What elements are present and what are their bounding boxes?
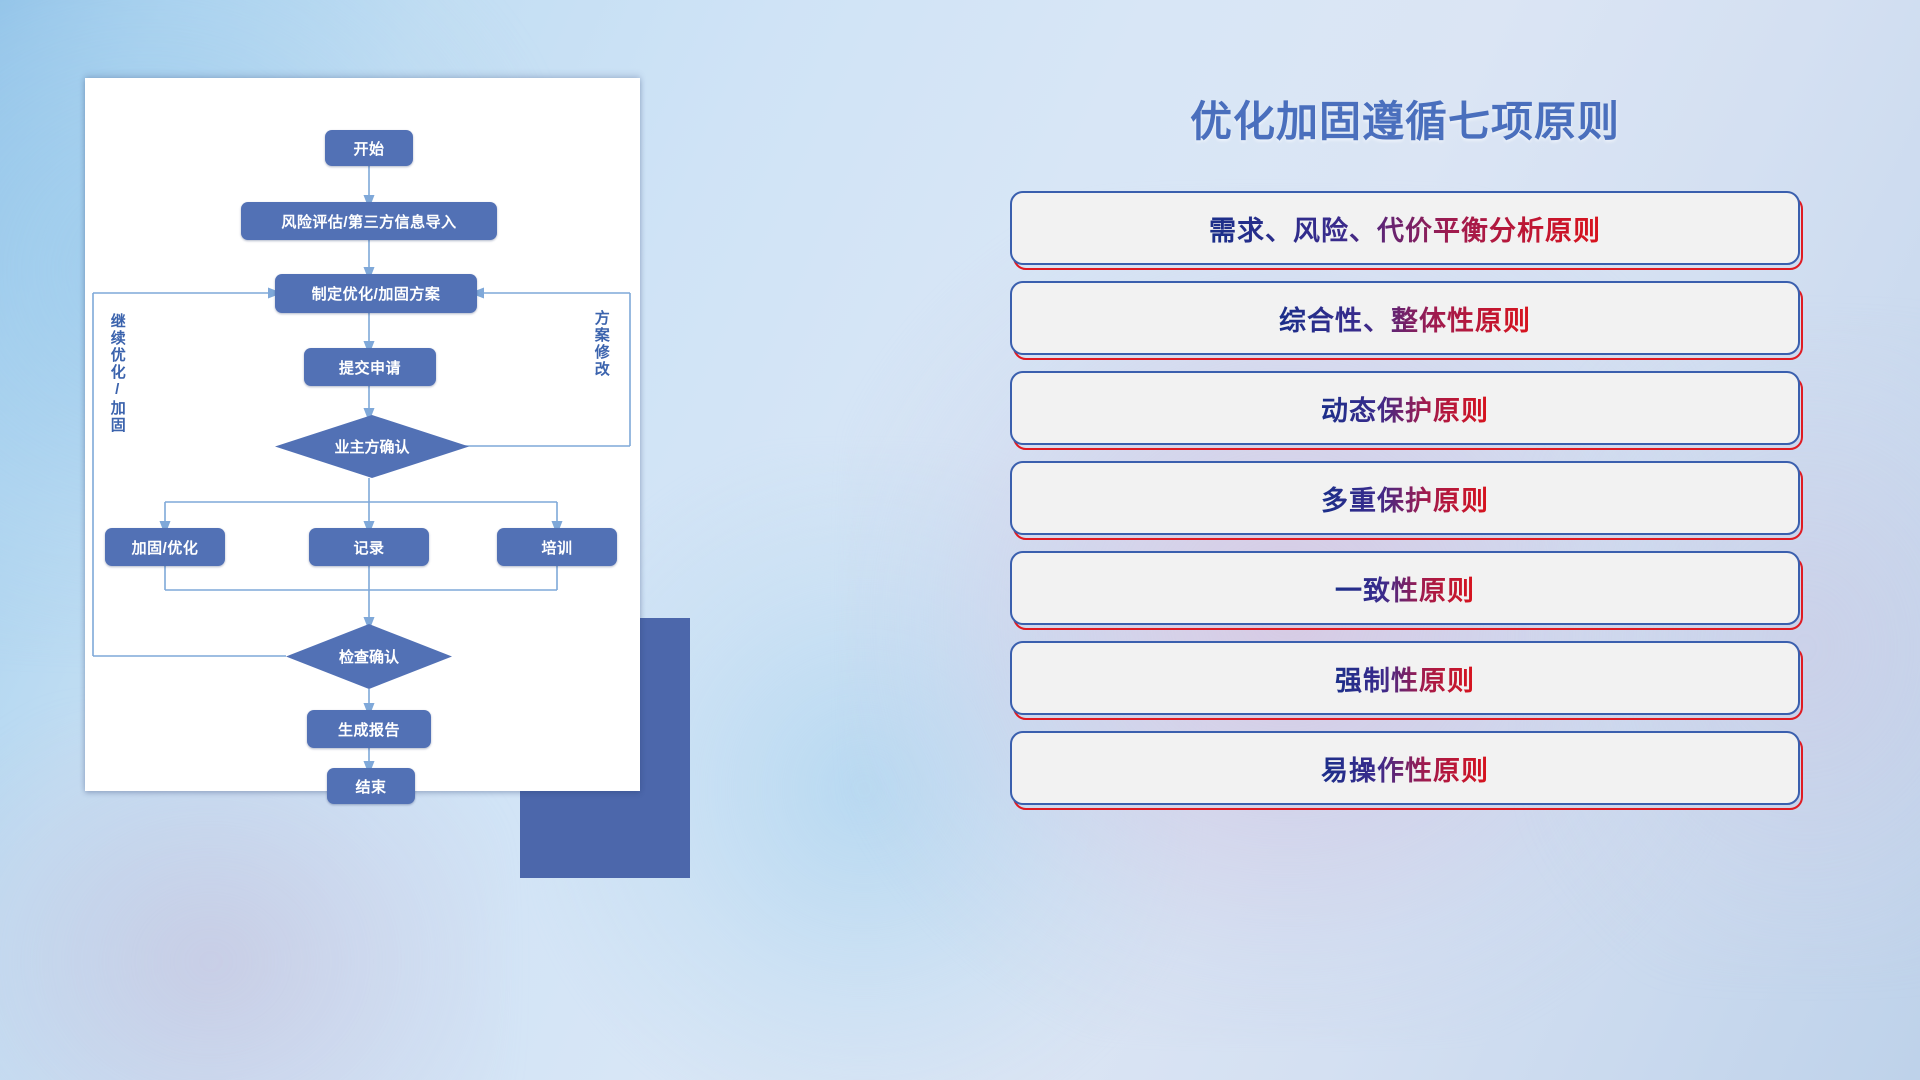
principle-label: 一致性原则 — [1335, 569, 1475, 608]
principles-panel: 优化加固遵循七项原则 需求、风险、代价平衡分析原则 综合性、整体性原则 动态保护… — [955, 80, 1855, 821]
flow-node-start[interactable]: 开始 — [325, 130, 413, 166]
flow-node-submit[interactable]: 提交申请 — [304, 348, 436, 386]
principle-label: 多重保护原则 — [1321, 479, 1489, 518]
flowchart-panel: 开始 风险评估/第三方信息导入 制定优化/加固方案 提交申请 业主方确认 加固/… — [85, 78, 645, 791]
principle-card-3[interactable]: 动态保护原则 — [1010, 371, 1800, 445]
flow-node-submit-label: 提交申请 — [339, 357, 401, 378]
card-face: 综合性、整体性原则 — [1010, 281, 1800, 355]
principle-card-7[interactable]: 易操作性原则 — [1010, 731, 1800, 805]
card-face: 动态保护原则 — [1010, 371, 1800, 445]
flowchart-paper: 开始 风险评估/第三方信息导入 制定优化/加固方案 提交申请 业主方确认 加固/… — [85, 78, 640, 791]
flow-node-end[interactable]: 结束 — [327, 768, 415, 804]
flow-edge-label-continue-optimize: 继续优化/加固 — [109, 313, 125, 434]
card-face: 需求、风险、代价平衡分析原则 — [1010, 191, 1800, 265]
flow-node-plan[interactable]: 制定优化/加固方案 — [275, 274, 477, 313]
flow-node-report[interactable]: 生成报告 — [307, 710, 431, 748]
principles-title: 优化加固遵循七项原则 — [1010, 80, 1800, 149]
flow-node-record-label: 记录 — [353, 537, 384, 558]
flow-decision-owner-confirm[interactable]: 业主方确认 — [275, 415, 469, 478]
principle-card-4[interactable]: 多重保护原则 — [1010, 461, 1800, 535]
principle-label: 强制性原则 — [1335, 659, 1475, 698]
flow-node-start-label: 开始 — [353, 138, 384, 159]
principle-card-6[interactable]: 强制性原则 — [1010, 641, 1800, 715]
flow-node-training[interactable]: 培训 — [497, 528, 617, 566]
card-face: 一致性原则 — [1010, 551, 1800, 625]
principle-label: 需求、风险、代价平衡分析原则 — [1209, 209, 1601, 248]
flowchart-canvas: 开始 风险评估/第三方信息导入 制定优化/加固方案 提交申请 业主方确认 加固/… — [85, 78, 640, 791]
flow-node-reinforce[interactable]: 加固/优化 — [105, 528, 225, 566]
flow-decision-inspection-label: 检查确认 — [339, 646, 399, 667]
flow-decision-inspection[interactable]: 检查确认 — [286, 624, 452, 689]
flow-node-record[interactable]: 记录 — [309, 528, 429, 566]
principle-card-5[interactable]: 一致性原则 — [1010, 551, 1800, 625]
principle-card-2[interactable]: 综合性、整体性原则 — [1010, 281, 1800, 355]
card-face: 易操作性原则 — [1010, 731, 1800, 805]
flow-node-risk-assessment-label: 风险评估/第三方信息导入 — [281, 211, 456, 232]
flow-node-training-label: 培训 — [541, 537, 572, 558]
flow-node-risk-assessment[interactable]: 风险评估/第三方信息导入 — [241, 202, 497, 240]
card-face: 强制性原则 — [1010, 641, 1800, 715]
principles-list: 需求、风险、代价平衡分析原则 综合性、整体性原则 动态保护原则 多重保护原则 一 — [1010, 191, 1800, 805]
flow-node-plan-label: 制定优化/加固方案 — [312, 283, 441, 304]
flow-node-end-label: 结束 — [355, 776, 386, 797]
principle-label: 动态保护原则 — [1321, 389, 1489, 428]
card-face: 多重保护原则 — [1010, 461, 1800, 535]
flow-node-reinforce-label: 加固/优化 — [132, 537, 199, 558]
flow-node-report-label: 生成报告 — [338, 719, 400, 740]
principle-card-1[interactable]: 需求、风险、代价平衡分析原则 — [1010, 191, 1800, 265]
flow-edge-label-plan-revision: 方案修改 — [593, 310, 609, 378]
flow-decision-owner-confirm-label: 业主方确认 — [334, 436, 409, 457]
principle-label: 综合性、整体性原则 — [1279, 299, 1531, 338]
principle-label: 易操作性原则 — [1321, 749, 1489, 788]
